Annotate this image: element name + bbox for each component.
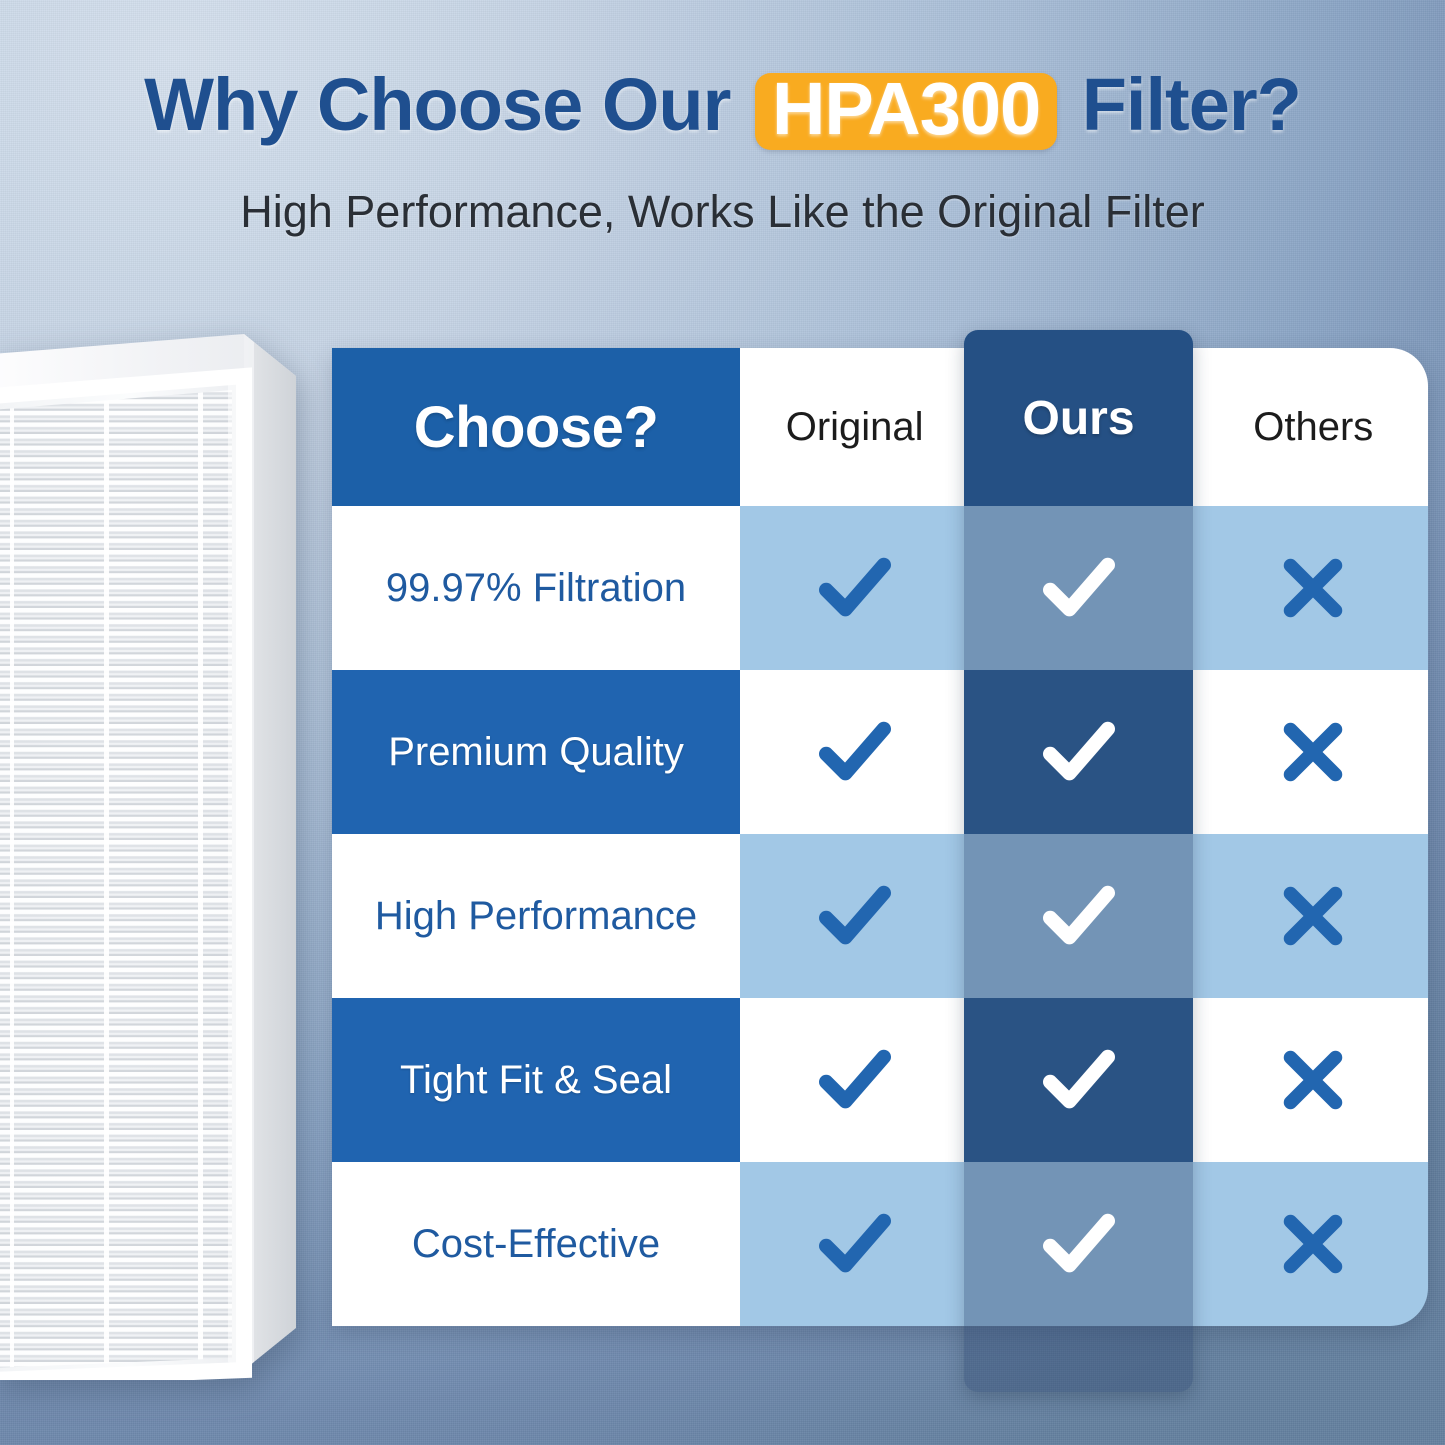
table-header-row: Choose? Original Ours Others	[332, 348, 1428, 506]
feature-label: Tight Fit & Seal	[400, 1058, 672, 1103]
check-icon	[807, 1032, 903, 1128]
check-icon	[807, 868, 903, 964]
cell-ours	[969, 998, 1198, 1162]
feature-label-cell: Tight Fit & Seal	[332, 998, 740, 1162]
table-row: Cost-Effective	[332, 1162, 1428, 1326]
cross-icon	[1268, 1199, 1358, 1289]
feature-label: 99.97% Filtration	[386, 566, 686, 611]
table-row: Premium Quality	[332, 670, 1428, 834]
header-choose-label: Choose?	[414, 394, 659, 461]
hepa-filter-photo	[0, 318, 317, 1380]
page-subtitle: High Performance, Works Like the Origina…	[0, 186, 1445, 238]
feature-label: High Performance	[375, 894, 697, 939]
cell-original	[740, 670, 969, 834]
title-text-before: Why Choose Our	[144, 63, 730, 146]
feature-label: Cost-Effective	[412, 1222, 660, 1267]
header-cell-original: Original	[740, 348, 969, 506]
header-ours-label-underlay: Ours	[1028, 400, 1140, 455]
check-icon	[807, 540, 903, 636]
cell-ours	[969, 506, 1198, 670]
header-cell-others: Others	[1199, 348, 1428, 506]
cell-others	[1199, 506, 1428, 670]
cell-others	[1199, 834, 1428, 998]
cell-ours	[969, 1162, 1198, 1326]
cell-others	[1199, 998, 1428, 1162]
cell-others	[1199, 670, 1428, 834]
cell-ours	[969, 834, 1198, 998]
ours-column-tail	[964, 1326, 1193, 1392]
table-row: 99.97% Filtration	[332, 506, 1428, 670]
check-icon	[807, 704, 903, 800]
comparison-table: Choose? Original Ours Others 99.97% Filt…	[332, 348, 1428, 1326]
cross-icon	[1268, 707, 1358, 797]
cross-icon	[1268, 543, 1358, 633]
model-badge: HPA300	[755, 73, 1057, 150]
header-original-label: Original	[786, 405, 924, 450]
feature-label-cell: High Performance	[332, 834, 740, 998]
check-icon	[807, 1196, 903, 1292]
cell-original	[740, 834, 969, 998]
cell-original	[740, 506, 969, 670]
cell-original	[740, 998, 969, 1162]
feature-label-cell: Premium Quality	[332, 670, 740, 834]
cell-ours	[969, 670, 1198, 834]
cell-original	[740, 1162, 969, 1326]
feature-label: Premium Quality	[388, 730, 684, 775]
header-others-label: Others	[1253, 405, 1373, 450]
header-cell-ours: Ours	[969, 348, 1198, 506]
cell-others	[1199, 1162, 1428, 1326]
cross-icon	[1268, 1035, 1358, 1125]
page-title: Why Choose Our HPA300 Filter?	[0, 62, 1445, 147]
header-cell-choose: Choose?	[332, 348, 740, 506]
cross-icon	[1268, 871, 1358, 961]
title-text-after: Filter?	[1082, 63, 1301, 146]
feature-label-cell: Cost-Effective	[332, 1162, 740, 1326]
table-row: High Performance	[332, 834, 1428, 998]
feature-label-cell: 99.97% Filtration	[332, 506, 740, 670]
table-row: Tight Fit & Seal	[332, 998, 1428, 1162]
